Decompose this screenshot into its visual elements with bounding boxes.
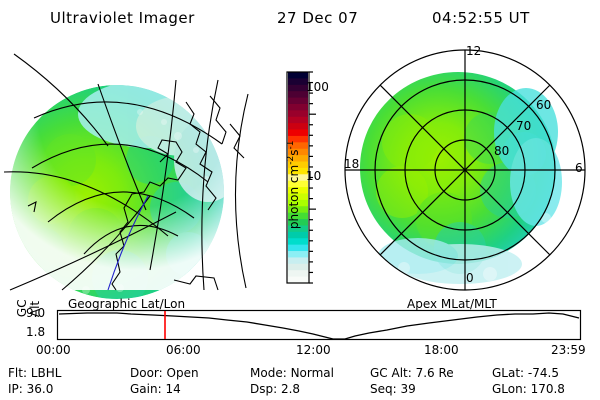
geographic-aurora-image[interactable] xyxy=(0,40,258,290)
colorbar-band xyxy=(288,123,308,130)
colorbar-band xyxy=(288,264,308,271)
status-field: Seq: 39 xyxy=(370,382,416,396)
status-label: Dsp: xyxy=(250,382,281,396)
gcalt-trace-line xyxy=(59,313,579,339)
status-value: 14 xyxy=(165,382,180,396)
status-value: Normal xyxy=(291,366,334,380)
time-tick-0: 00:00 xyxy=(36,343,71,357)
status-value: 2.8 xyxy=(281,382,300,396)
gcalt-tick-bottom: 1.8 xyxy=(26,325,45,339)
mlat-label-80: 80 xyxy=(494,144,509,158)
colorbar-band xyxy=(288,130,308,137)
status-label: GLat: xyxy=(492,366,528,380)
status-field: Door: Open xyxy=(130,366,199,380)
mlat-label-60: 60 xyxy=(536,98,551,112)
time-tick-3: 18:00 xyxy=(424,343,459,357)
status-label: IP: xyxy=(8,382,27,396)
status-label: Flt: xyxy=(8,366,31,380)
status-value: 7.6 Re xyxy=(416,366,454,380)
colorbar-band xyxy=(288,251,308,258)
time-tick-1: 06:00 xyxy=(166,343,201,357)
mlat-label-70: 70 xyxy=(516,119,531,133)
mlt-label-18: 18 xyxy=(344,157,359,171)
colorbar-band xyxy=(288,270,308,277)
mlt-label-6: 6 xyxy=(575,161,583,175)
status-label: Mode: xyxy=(250,366,291,380)
observation-time: 04:52:55 UT xyxy=(432,9,530,27)
status-bar: Flt: LBHLDoor: OpenMode: NormalGC Alt: 7… xyxy=(0,366,600,400)
observation-date: 27 Dec 07 xyxy=(277,9,358,27)
colorbar-unit-exp1: -2 xyxy=(286,156,296,165)
mlt-label-12: 12 xyxy=(466,44,481,58)
status-value: -74.5 xyxy=(528,366,559,380)
status-value: 36.0 xyxy=(27,382,54,396)
time-tick-4: 23:59 xyxy=(551,343,586,357)
colorbar-band xyxy=(288,257,308,264)
colorbar-band xyxy=(288,110,308,117)
status-field: Gain: 14 xyxy=(130,382,181,396)
status-value: LBHL xyxy=(31,366,62,380)
status-label: Door: xyxy=(130,366,167,380)
status-value: 39 xyxy=(400,382,415,396)
colorbar-unit-photon: photon cm xyxy=(287,165,301,229)
colorbar-tick-label-100: 100 xyxy=(306,80,329,94)
mlt-spokes xyxy=(345,50,585,290)
status-field: IP: 36.0 xyxy=(8,382,53,396)
status-field: GC Alt: 7.6 Re xyxy=(370,366,454,380)
status-row-2: IP: 36.0Gain: 14Dsp: 2.8Seq: 39GLon: 170… xyxy=(0,382,600,398)
status-value: 170.8 xyxy=(531,382,565,396)
colorbar-band xyxy=(288,78,308,85)
apex-mlat-mlt-plot[interactable] xyxy=(340,42,600,292)
time-tick-2: 12:00 xyxy=(296,343,331,357)
instrument-title: Ultraviolet Imager xyxy=(50,9,195,27)
status-label: GLon: xyxy=(492,382,531,396)
status-value: Open xyxy=(167,366,199,380)
colorbar-band xyxy=(288,85,308,92)
gcalt-trace-plot[interactable] xyxy=(57,310,581,340)
status-field: GLat: -74.5 xyxy=(492,366,559,380)
right-panel-caption: Apex MLat/MLT xyxy=(407,297,497,311)
status-label: GC Alt: xyxy=(370,366,416,380)
colorbar-axis-label: photon cm-2s-1 xyxy=(272,252,273,253)
status-row-1: Flt: LBHLDoor: OpenMode: NormalGC Alt: 7… xyxy=(0,366,600,382)
colorbar-band xyxy=(288,72,308,79)
colorbar-band xyxy=(288,117,308,124)
mlt-label-0: 0 xyxy=(466,271,474,285)
gcalt-axis-title: GC Alt xyxy=(3,300,4,301)
colorbar-band xyxy=(288,98,308,105)
left-panel-caption: Geographic Lat/Lon xyxy=(68,297,185,311)
gcalt-tick-top: 9.0 xyxy=(26,306,45,320)
colorbar-unit-s: s xyxy=(287,150,301,156)
status-field: Flt: LBHL xyxy=(8,366,61,380)
colorbar-band xyxy=(288,91,308,98)
status-field: GLon: 170.8 xyxy=(492,382,565,396)
uv-imager-display: Ultraviolet Imager 27 Dec 07 04:52:55 UT xyxy=(0,0,600,400)
status-field: Mode: Normal xyxy=(250,366,334,380)
status-label: Gain: xyxy=(130,382,165,396)
status-field: Dsp: 2.8 xyxy=(250,382,300,396)
colorbar-unit-exp2: -1 xyxy=(286,141,296,150)
colorbar-band xyxy=(288,104,308,111)
status-label: Seq: xyxy=(370,382,400,396)
